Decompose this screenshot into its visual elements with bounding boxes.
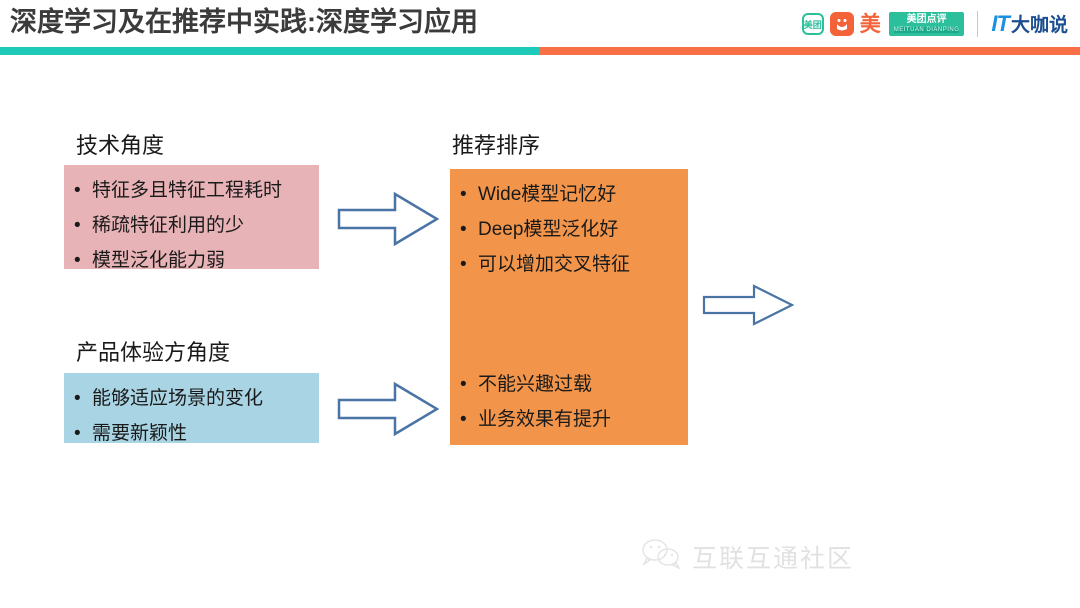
arrow-tech-to-ranking-icon bbox=[337, 188, 439, 255]
meituan-dianping-logo-subtitle: MEITUAN DIANPING bbox=[894, 27, 960, 33]
list-item: 特征多且特征工程耗时 bbox=[74, 173, 307, 208]
arrow-ranking-to-result-icon bbox=[702, 283, 794, 332]
tech-bullet-list: 特征多且特征工程耗时 稀疏特征利用的少 模型泛化能力弱 bbox=[74, 173, 307, 278]
list-item: 需要新颖性 bbox=[74, 416, 307, 451]
product-section-heading: 产品体验方角度 bbox=[76, 335, 230, 367]
mei-character-logo: 美 bbox=[860, 14, 881, 35]
list-item: 稀疏特征利用的少 bbox=[74, 208, 307, 243]
page-title: 深度学习及在推荐中实践:深度学习应用 bbox=[10, 4, 478, 40]
meituan-logo-label: 美团 bbox=[804, 18, 822, 31]
tech-section-heading: 技术角度 bbox=[76, 128, 164, 160]
list-item: 能够适应场景的变化 bbox=[74, 381, 307, 416]
product-bullet-list: 能够适应场景的变化 需要新颖性 bbox=[74, 381, 307, 451]
meituan-dianping-logo-title: 美团点评 bbox=[894, 15, 960, 26]
list-item: 业务效果有提升 bbox=[460, 402, 680, 437]
accent-bar-teal-segment bbox=[0, 47, 540, 55]
wechat-icon bbox=[640, 538, 682, 575]
list-item: 不能兴趣过载 bbox=[460, 367, 680, 402]
product-section-box: 能够适应场景的变化 需要新颖性 bbox=[64, 373, 319, 443]
logo-group: 美团 美 美团点评 MEITUAN DIANPING IT 大咖说 bbox=[802, 7, 1068, 41]
itdakashuo-logo-main: 大咖说 bbox=[1011, 16, 1068, 35]
ranking-lower-bullet-list: 不能兴趣过载 业务效果有提升 bbox=[460, 367, 680, 437]
ranking-section-heading: 推荐排序 bbox=[452, 128, 540, 160]
slide-header: 深度学习及在推荐中实践:深度学习应用 美团 美 美团点评 MEITUAN DIA… bbox=[0, 0, 1080, 47]
itdakashuo-logo-prefix: IT bbox=[991, 13, 1009, 35]
watermark-text: 互联互通社区 bbox=[692, 539, 854, 575]
logo-divider bbox=[977, 11, 978, 37]
ranking-section-box: Wide模型记忆好 Deep模型泛化好 可以增加交叉特征 不能兴趣过载 业务效果… bbox=[450, 169, 688, 445]
list-item: 可以增加交叉特征 bbox=[460, 247, 676, 282]
list-item: 模型泛化能力弱 bbox=[74, 243, 307, 278]
tech-section-box: 特征多且特征工程耗时 稀疏特征利用的少 模型泛化能力弱 bbox=[64, 165, 319, 269]
list-item: Deep模型泛化好 bbox=[460, 212, 676, 247]
header-accent-bar bbox=[0, 47, 1080, 55]
watermark: 互联互通社区 bbox=[640, 538, 854, 575]
meituan-dianping-logo: 美团点评 MEITUAN DIANPING bbox=[889, 12, 965, 36]
accent-bar-orange-segment bbox=[540, 47, 1080, 55]
dianping-logo-icon bbox=[830, 12, 854, 36]
arrow-product-to-ranking-icon bbox=[337, 378, 439, 445]
meituan-logo-icon: 美团 bbox=[802, 13, 824, 35]
slide-canvas: 深度学习及在推荐中实践:深度学习应用 美团 美 美团点评 MEITUAN DIA… bbox=[0, 0, 1080, 608]
ranking-upper-bullet-list: Wide模型记忆好 Deep模型泛化好 可以增加交叉特征 bbox=[460, 177, 676, 282]
itdakashuo-logo: IT 大咖说 bbox=[991, 13, 1068, 35]
list-item: Wide模型记忆好 bbox=[460, 177, 676, 212]
